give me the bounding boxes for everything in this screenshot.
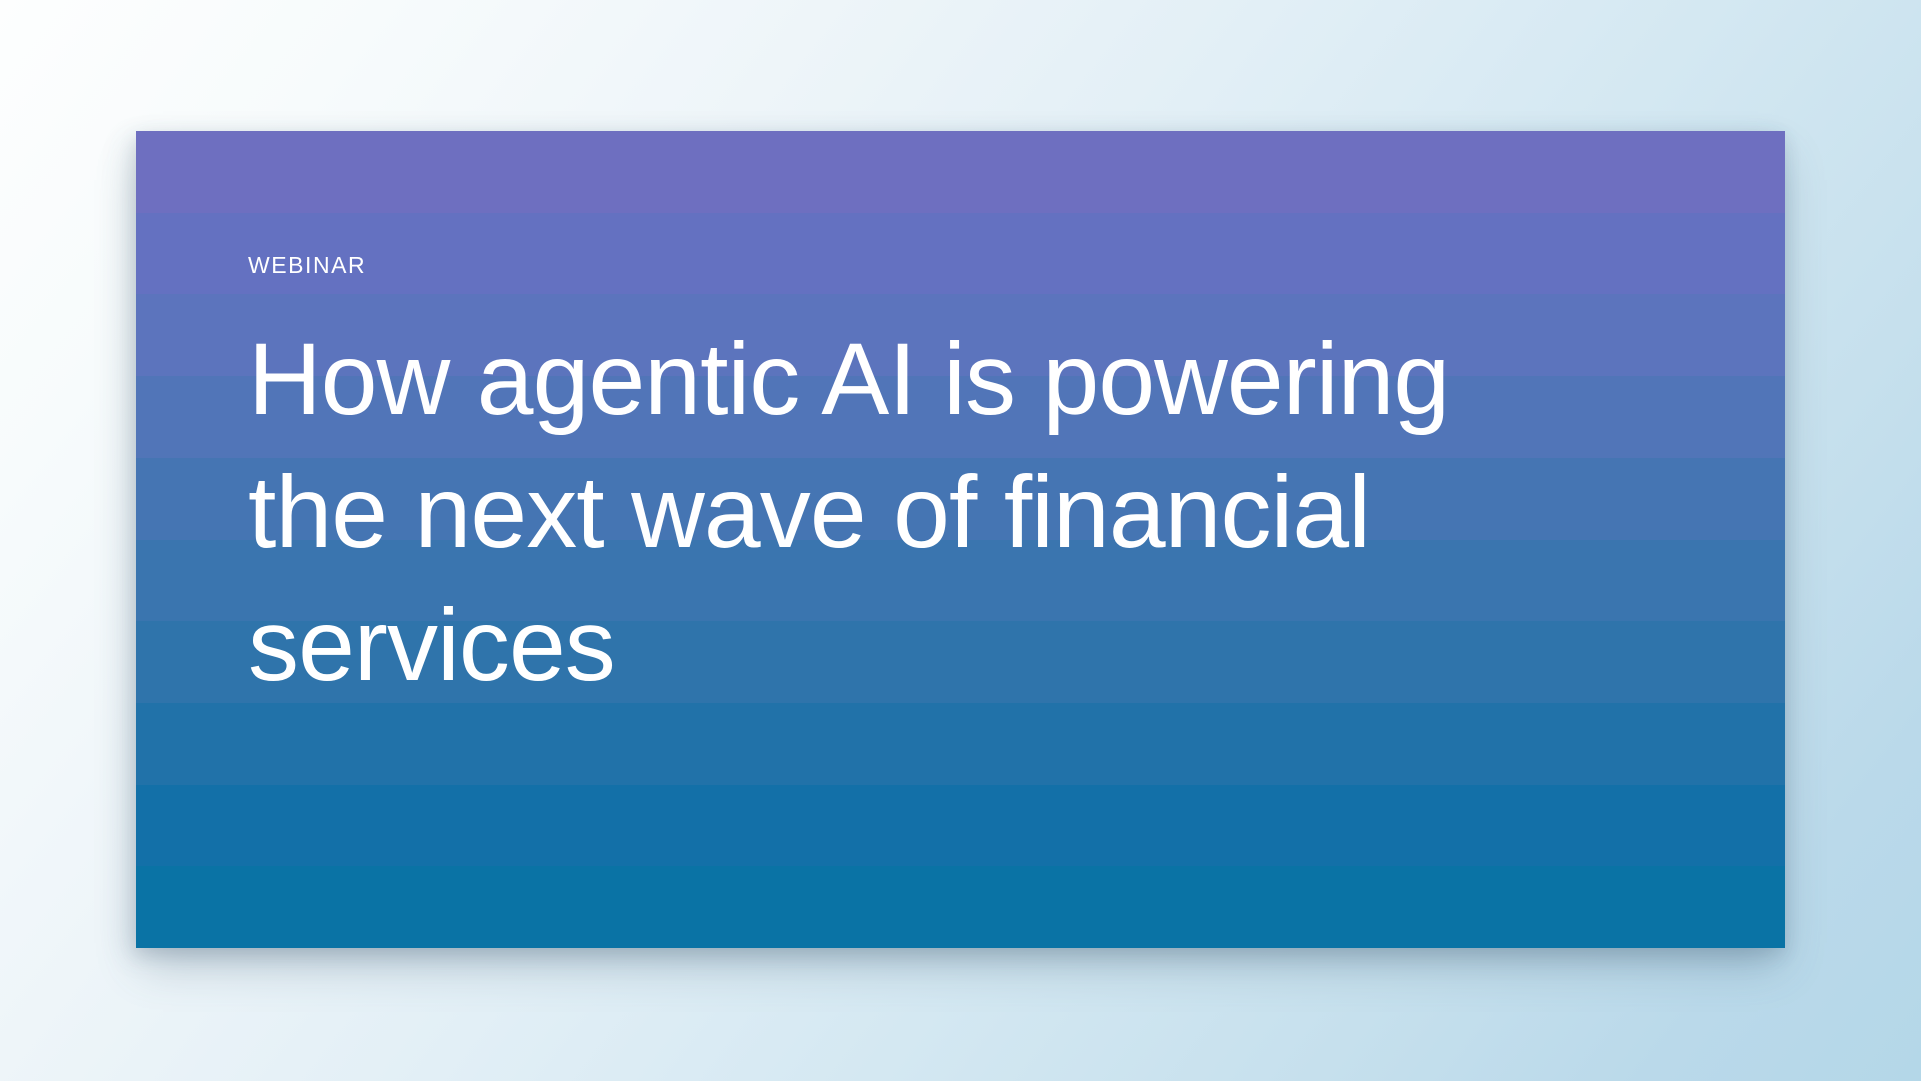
eyebrow-label: WEBINAR bbox=[248, 254, 366, 277]
headline-line-3: services bbox=[248, 579, 1449, 712]
page-background: WEBINAR How agentic AI is powering the n… bbox=[0, 0, 1921, 1081]
page-title: How agentic AI is powering the next wave… bbox=[248, 313, 1449, 712]
webinar-promo-card[interactable]: WEBINAR How agentic AI is powering the n… bbox=[136, 131, 1785, 948]
headline-line-2: the next wave of financial bbox=[248, 446, 1449, 579]
headline-line-1: How agentic AI is powering bbox=[248, 313, 1449, 446]
card-content: WEBINAR How agentic AI is powering the n… bbox=[136, 131, 1785, 948]
